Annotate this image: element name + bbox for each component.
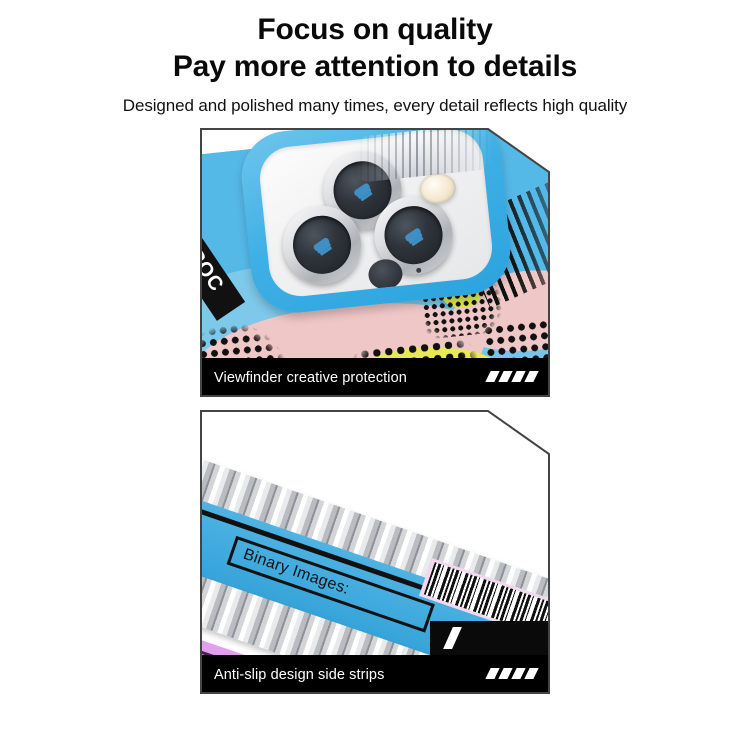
lens-glint-icon (353, 183, 371, 198)
phone-case-artwork: POC (200, 128, 550, 358)
panel-caption-bar-1: Viewfinder creative protection (200, 358, 550, 397)
slash-icon (443, 627, 462, 649)
page-title-line-2: Pay more attention to details (0, 49, 750, 86)
slash-icon (485, 371, 499, 382)
slash-marks-icon-1 (488, 371, 536, 382)
slash-icon (498, 668, 512, 679)
lens-glint-icon (313, 237, 331, 252)
photo-black-corner (430, 621, 550, 655)
panel-caption-text-2: Anti-slip design side strips (214, 667, 384, 683)
product-detail-page: Focus on quality Pay more attention to d… (0, 0, 750, 750)
header: Focus on quality Pay more attention to d… (0, 0, 750, 116)
panel-caption-text-1: Viewfinder creative protection (214, 370, 407, 386)
side-strip-artwork: Binary Images: NSION -extreme (0 (200, 410, 550, 655)
halftone-dots-1 (200, 319, 295, 358)
page-subtitle: Designed and polished many times, every … (0, 96, 750, 116)
binary-images-label-text: Binary Images: (241, 546, 352, 599)
lens-glint-icon (404, 228, 422, 243)
slash-marks-icon-2 (488, 668, 536, 679)
slash-icon (524, 371, 538, 382)
feature-panels: POC (0, 128, 750, 694)
panel-caption-bar-2: Anti-slip design side strips (200, 655, 550, 694)
product-photo-antislip: Binary Images: NSION -extreme (0 (200, 410, 550, 655)
feature-panel-viewfinder: POC (200, 128, 550, 397)
slash-icon (511, 371, 525, 382)
page-title-line-1: Focus on quality (0, 12, 750, 49)
slash-icon (485, 668, 499, 679)
slash-icon (524, 668, 538, 679)
slash-icon (511, 668, 525, 679)
feature-panel-antislip: Binary Images: NSION -extreme (0 (200, 410, 550, 694)
product-photo-viewfinder: POC (200, 128, 550, 358)
slash-icon (498, 371, 512, 382)
